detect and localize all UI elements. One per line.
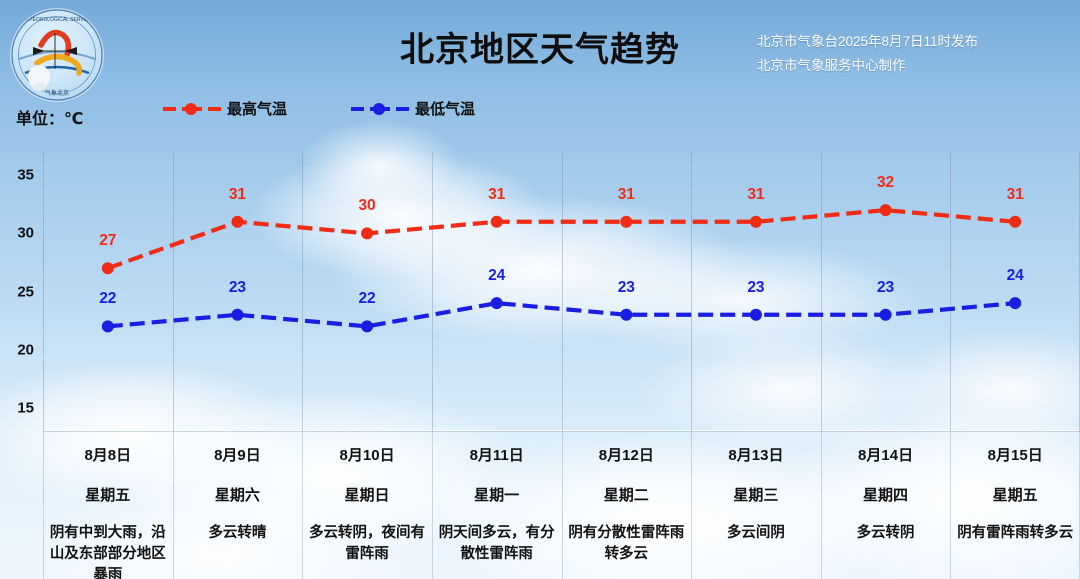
data-point-marker bbox=[620, 216, 632, 228]
legend-label-high: 最高气温 bbox=[227, 98, 287, 119]
table-column-separator bbox=[302, 431, 303, 579]
forecast-weekday: 星期三 bbox=[691, 484, 821, 505]
forecast-column[interactable]: 8月11日星期一阴天间多云，有分散性雷阵雨 bbox=[432, 431, 562, 579]
table-column-separator bbox=[562, 431, 563, 579]
forecast-column[interactable]: 8月9日星期六多云转晴 bbox=[173, 431, 303, 579]
forecast-description: 阴天间多云，有分散性雷阵雨 bbox=[432, 523, 562, 565]
forecast-description: 多云转阴，夜间有雷阵雨 bbox=[302, 523, 432, 565]
y-axis-tick-25: 25 bbox=[17, 283, 34, 300]
data-point-marker bbox=[1009, 216, 1021, 228]
data-point-marker bbox=[750, 309, 762, 321]
forecast-column[interactable]: 8月8日星期五阴有中到大雨，沿山及东部部分地区暴雨 bbox=[43, 431, 173, 579]
forecast-description: 多云间阴 bbox=[691, 523, 821, 544]
issue-line-1: 北京市气象台2025年8月7日11时发布 bbox=[757, 30, 978, 54]
legend-marker-high-icon bbox=[163, 103, 221, 115]
unit-label: 单位：℃ bbox=[16, 105, 83, 129]
forecast-date: 8月14日 bbox=[821, 444, 951, 465]
table-column-separator bbox=[432, 431, 433, 579]
legend-item-low: 最低气温 bbox=[351, 98, 475, 119]
forecast-date: 8月9日 bbox=[173, 444, 303, 465]
svg-text:气象北京: 气象北京 bbox=[45, 89, 69, 97]
forecast-date: 8月11日 bbox=[432, 444, 562, 465]
data-point-marker bbox=[491, 216, 503, 228]
issue-info: 北京市气象台2025年8月7日11时发布 北京市气象服务中心制作 bbox=[757, 30, 978, 78]
y-axis: 1520253035 bbox=[0, 152, 43, 442]
forecast-weekday: 星期日 bbox=[302, 484, 432, 505]
y-axis-tick-35: 35 bbox=[17, 167, 34, 184]
forecast-column[interactable]: 8月14日星期四多云转阴 bbox=[821, 431, 951, 579]
series-line-最高气温 bbox=[108, 210, 1015, 268]
data-point-marker bbox=[231, 216, 243, 228]
legend-item-high: 最高气温 bbox=[163, 98, 287, 119]
legend-marker-low-icon bbox=[351, 103, 409, 115]
forecast-column[interactable]: 8月15日星期五阴有雷阵雨转多云 bbox=[950, 431, 1080, 579]
forecast-description: 阴有分散性雷阵雨转多云 bbox=[562, 523, 692, 565]
y-axis-tick-30: 30 bbox=[17, 225, 34, 242]
forecast-description: 多云转阴 bbox=[821, 523, 951, 544]
issue-line-2: 北京市气象服务中心制作 bbox=[757, 54, 978, 78]
legend-label-low: 最低气温 bbox=[415, 98, 475, 119]
forecast-column[interactable]: 8月10日星期日多云转阴，夜间有雷阵雨 bbox=[302, 431, 432, 579]
forecast-weekday: 星期四 bbox=[821, 484, 951, 505]
forecast-date: 8月13日 bbox=[691, 444, 821, 465]
forecast-table: 8月8日星期五阴有中到大雨，沿山及东部部分地区暴雨8月9日星期六多云转晴8月10… bbox=[43, 431, 1080, 579]
series-line-最低气温 bbox=[108, 303, 1015, 326]
weather-trend-infographic: METEOROLOGICAL SERVICE 气象北京 北京地区天气趋势 北京市… bbox=[0, 0, 1080, 579]
data-point-marker bbox=[361, 320, 373, 332]
data-point-marker bbox=[102, 262, 114, 274]
data-point-marker bbox=[102, 320, 114, 332]
forecast-column[interactable]: 8月12日星期二阴有分散性雷阵雨转多云 bbox=[562, 431, 692, 579]
forecast-description: 多云转晴 bbox=[173, 523, 303, 544]
forecast-date: 8月15日 bbox=[950, 444, 1080, 465]
forecast-description: 阴有中到大雨，沿山及东部部分地区暴雨 bbox=[43, 523, 173, 579]
table-column-separator bbox=[821, 431, 822, 579]
forecast-weekday: 星期五 bbox=[43, 484, 173, 505]
forecast-weekday: 星期五 bbox=[950, 484, 1080, 505]
table-column-separator bbox=[43, 431, 44, 579]
data-point-marker bbox=[361, 227, 373, 239]
forecast-weekday: 星期二 bbox=[562, 484, 692, 505]
forecast-date: 8月10日 bbox=[302, 444, 432, 465]
data-point-marker bbox=[880, 309, 892, 321]
forecast-date: 8月8日 bbox=[43, 444, 173, 465]
forecast-weekday: 星期一 bbox=[432, 484, 562, 505]
forecast-description: 阴有雷阵雨转多云 bbox=[950, 523, 1080, 544]
forecast-date: 8月12日 bbox=[562, 444, 692, 465]
forecast-weekday: 星期六 bbox=[173, 484, 303, 505]
y-axis-tick-15: 15 bbox=[17, 399, 34, 416]
data-point-marker bbox=[880, 204, 892, 216]
temperature-series bbox=[43, 152, 1080, 431]
data-point-marker bbox=[1009, 297, 1021, 309]
data-point-marker bbox=[231, 309, 243, 321]
table-column-separator bbox=[691, 431, 692, 579]
table-column-separator bbox=[950, 431, 951, 579]
data-point-marker bbox=[620, 309, 632, 321]
chart-legend: 最高气温 最低气温 bbox=[163, 98, 475, 119]
table-column-separator bbox=[173, 431, 174, 579]
forecast-column[interactable]: 8月13日星期三多云间阴 bbox=[691, 431, 821, 579]
y-axis-tick-20: 20 bbox=[17, 341, 34, 358]
data-point-marker bbox=[491, 297, 503, 309]
data-point-marker bbox=[750, 216, 762, 228]
